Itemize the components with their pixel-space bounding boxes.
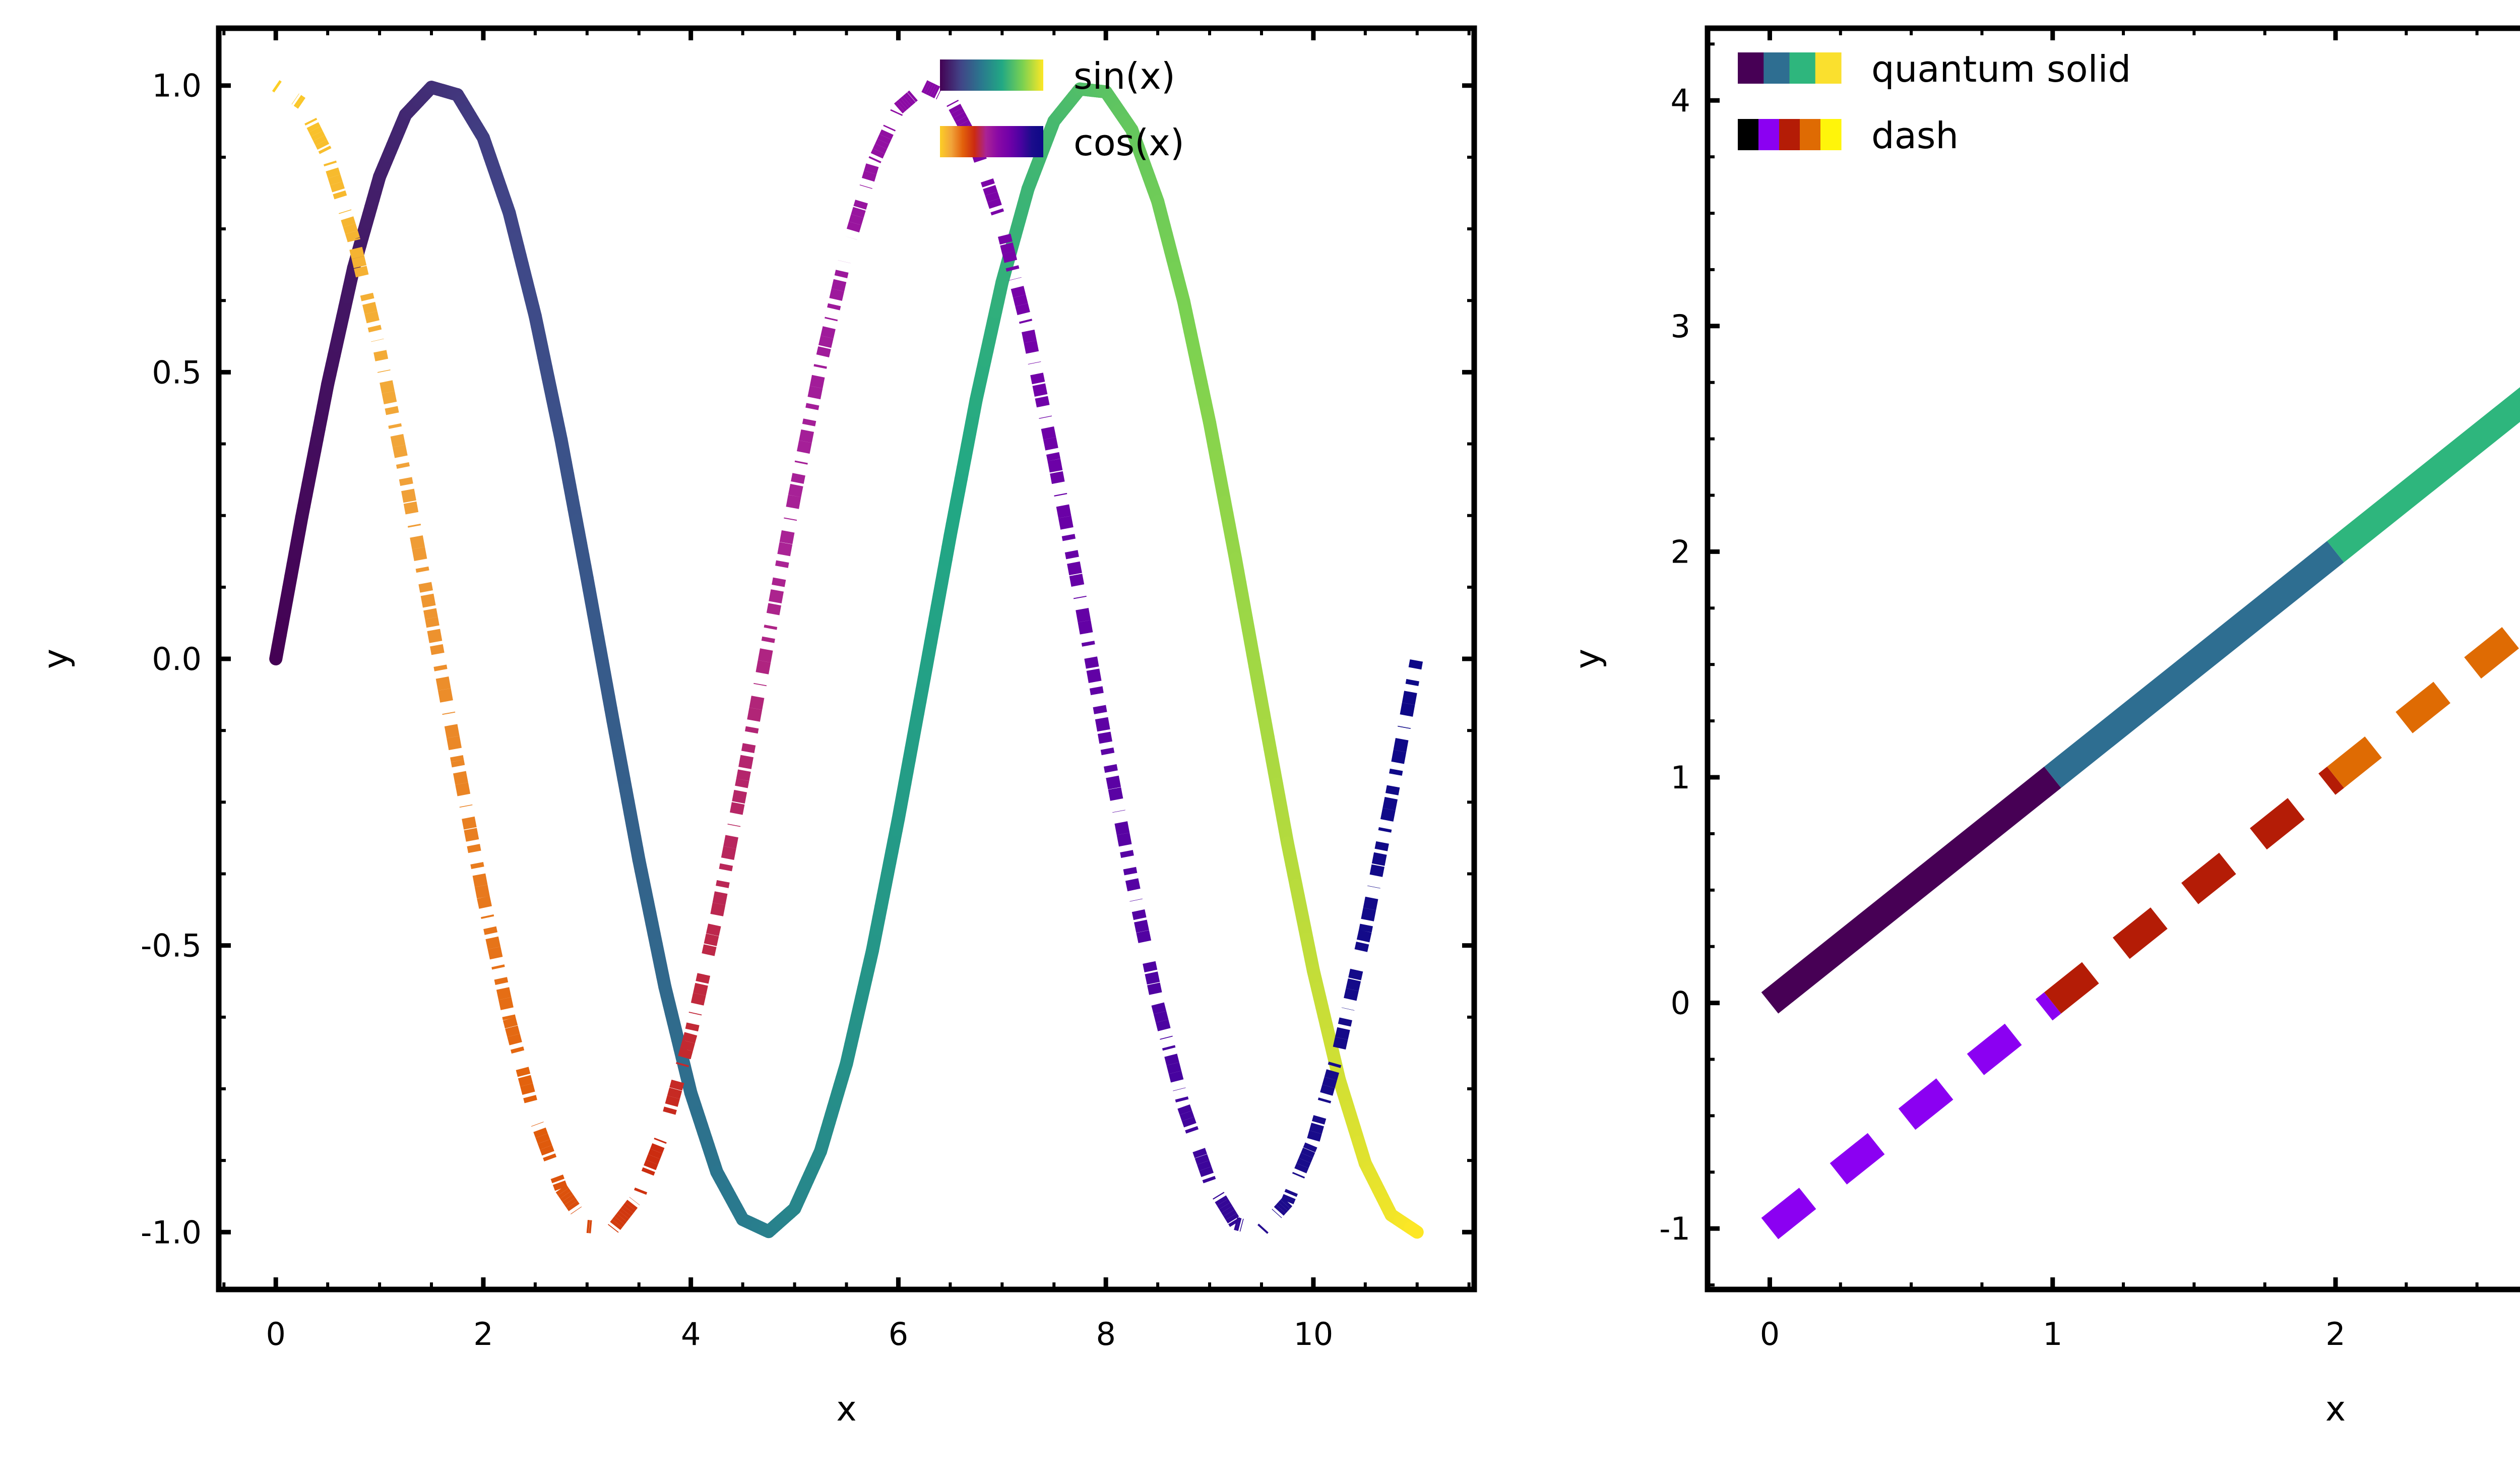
- x-axis-label: x: [836, 1389, 856, 1429]
- line-dash-piece: [1287, 1197, 1289, 1202]
- line-dash-piece: [1342, 1029, 1344, 1038]
- line-dash-piece: [1238, 1224, 1240, 1224]
- line-dash-piece: [1112, 777, 1114, 788]
- legend-label: quantum solid: [1871, 48, 2131, 90]
- legend-label: dash: [1871, 114, 1959, 157]
- line-dash-piece: [1376, 865, 1378, 876]
- line-dash-piece: [671, 1097, 673, 1105]
- line-dash-piece: [730, 836, 732, 847]
- line-dash-piece: [676, 1081, 678, 1089]
- line-dash-piece: [297, 100, 299, 102]
- line-dash-piece: [1220, 1199, 1222, 1202]
- line-dash-piece: [1158, 1004, 1160, 1013]
- line-dash-piece: [416, 536, 418, 548]
- y-tick-label: 1.0: [152, 68, 202, 104]
- line-dash-piece: [1398, 751, 1400, 763]
- line-dash-piece: [334, 176, 336, 183]
- line-dash-piece: [1017, 287, 1019, 296]
- line-dash-piece: [1363, 931, 1365, 941]
- line-dash-piece: [514, 1035, 516, 1043]
- line-dash-piece: [460, 772, 462, 784]
- line-dash-piece: [1074, 563, 1076, 574]
- line-dash-piece: [1354, 970, 1356, 980]
- line-dash-piece: [1020, 296, 1022, 304]
- line-dash-piece: [631, 1204, 633, 1206]
- line-dash-piece: [652, 1157, 654, 1162]
- line-dash-piece: [1281, 1206, 1283, 1209]
- line-dash-piece: [803, 442, 805, 453]
- legend-swatch-block: [1763, 52, 1790, 84]
- y-tick-label: -0.5: [141, 928, 202, 964]
- line-dash-piece: [1171, 1055, 1173, 1064]
- line-dash-piece: [1173, 1064, 1175, 1072]
- line-dash-piece: [926, 87, 928, 88]
- line-dash-piece: [1300, 1165, 1302, 1170]
- line-dash-piece: [719, 893, 721, 904]
- line-dash-piece: [838, 281, 840, 290]
- line-dash-piece: [453, 737, 455, 749]
- line-dash-piece: [816, 376, 818, 387]
- line-dash-piece: [312, 125, 314, 130]
- y-tick-label: 1: [1671, 759, 1690, 796]
- line-dash-piece: [1406, 704, 1408, 715]
- line-dash-piece: [654, 1151, 656, 1157]
- line-dash-piece: [563, 1192, 565, 1195]
- line-dash-piece: [911, 95, 913, 97]
- axes-right-panel: 01234-101234xyquantum soliddash: [1568, 28, 2520, 1429]
- line-dash-piece: [898, 107, 900, 109]
- line-dash-piece: [686, 1042, 688, 1050]
- line-dash-piece: [1114, 788, 1116, 800]
- line-dash-piece: [814, 387, 816, 398]
- x-axis-label: x: [2325, 1389, 2346, 1429]
- legend-swatch-block: [1758, 119, 1780, 150]
- line-dash-piece: [1022, 305, 1024, 314]
- y-axis-label: y: [36, 649, 76, 669]
- line-dash-piece: [870, 165, 872, 172]
- line-dash-piece: [349, 225, 351, 232]
- line-dash-piece: [451, 725, 453, 737]
- line-dash-piece: [1009, 253, 1011, 261]
- line-dash-piece: [1028, 331, 1030, 341]
- y-tick-label: 0.0: [152, 641, 202, 677]
- x-tick-label: 4: [681, 1316, 701, 1352]
- line-dash-piece: [617, 1220, 619, 1223]
- line-dash-piece: [879, 146, 881, 151]
- line-dash-piece: [1223, 1202, 1225, 1206]
- line-dash-piece: [688, 1034, 690, 1042]
- line-dash-piece: [857, 209, 859, 216]
- line-dash-piece: [656, 1146, 658, 1151]
- line-dash-piece: [356, 249, 358, 258]
- y-tick-label: 2: [1671, 533, 1690, 570]
- y-tick-label: -1.0: [141, 1214, 202, 1251]
- line-dash-piece: [371, 313, 373, 322]
- line-dash-piece: [1084, 621, 1086, 633]
- line-dash-piece: [762, 661, 764, 673]
- x-tick-label: 0: [266, 1316, 286, 1352]
- line-dash-piece: [1050, 439, 1052, 449]
- line-dash-piece: [479, 875, 481, 886]
- plot-area-left-panel: [219, 28, 1474, 1289]
- line-dash-piece: [881, 142, 883, 146]
- line-dash-piece: [1102, 718, 1104, 730]
- line-dash-piece: [836, 290, 838, 299]
- line-dash-piece: [728, 847, 730, 858]
- line-dash-piece: [905, 101, 907, 103]
- line-dash-piece: [1367, 909, 1369, 920]
- line-dash-piece: [512, 1027, 514, 1035]
- legend-swatch-block: [1738, 119, 1759, 150]
- line-dash-piece: [527, 1085, 529, 1093]
- line-dash-piece: [570, 1201, 572, 1204]
- line-dash-piece: [1160, 1013, 1162, 1021]
- line-dash-piece: [1227, 1209, 1229, 1213]
- legend-label: cos(x): [1074, 121, 1184, 164]
- line-dash-piece: [907, 99, 909, 101]
- line-dash-piece: [1030, 342, 1032, 352]
- line-dash-piece: [1004, 235, 1006, 244]
- matplotlib-figure: 0246810-1.0-0.50.00.51.0xysin(x)cos(x)01…: [0, 0, 2520, 1479]
- line-dash-piece: [619, 1217, 621, 1220]
- line-dash-piece: [853, 223, 855, 230]
- line-dash-piece: [358, 258, 360, 267]
- line-dash-piece: [559, 1183, 561, 1189]
- line-dash-piece: [859, 202, 861, 209]
- line-dash-piece: [957, 111, 959, 115]
- line-dash-piece: [1283, 1204, 1285, 1207]
- line-dash-piece: [492, 938, 494, 948]
- line-dash-piece: [795, 485, 797, 496]
- line-dash-piece: [561, 1189, 563, 1192]
- line-dash-piece: [299, 102, 301, 103]
- line-dash-piece: [1143, 932, 1145, 942]
- line-dash-piece: [503, 989, 505, 999]
- x-tick-label: 10: [1293, 1316, 1333, 1352]
- line-dash-piece: [1062, 506, 1064, 517]
- x-tick-label: 2: [473, 1316, 493, 1352]
- line-dash-piece: [1369, 898, 1371, 909]
- line-dash-piece: [933, 90, 935, 91]
- line-dash-piece: [1313, 1132, 1315, 1140]
- line-dash-piece: [542, 1136, 544, 1142]
- line-dash-piece: [1039, 385, 1041, 395]
- line-dash-piece: [544, 1142, 546, 1148]
- line-dash-piece: [786, 531, 788, 543]
- line-dash-piece: [314, 130, 317, 134]
- line-dash-piece: [347, 218, 349, 225]
- line-dash-piece: [673, 1089, 675, 1097]
- line-dash-piece: [1329, 1079, 1331, 1086]
- line-dash-piece: [955, 107, 957, 111]
- line-dash-piece: [1186, 1113, 1188, 1119]
- legend-swatch-gradient: [940, 126, 1043, 157]
- line-dash-piece: [825, 337, 827, 347]
- x-tick-label: 0: [1760, 1316, 1780, 1352]
- legend-swatch-block: [1815, 52, 1842, 84]
- line-dash-piece: [886, 132, 888, 137]
- line-dash-piece: [624, 1212, 626, 1214]
- y-tick-label: 4: [1671, 82, 1690, 119]
- line-dash-piece: [317, 134, 319, 138]
- line-dash-piece: [408, 490, 410, 502]
- line-dash-piece: [698, 994, 700, 1004]
- line-dash-piece: [615, 1223, 617, 1225]
- line-dash-piece: [792, 496, 794, 508]
- line-dash-piece: [1236, 1223, 1238, 1224]
- line-dash-piece: [1047, 427, 1049, 438]
- line-dash-piece: [470, 829, 472, 841]
- axes-left-panel: 0246810-1.0-0.50.00.51.0xysin(x)cos(x): [36, 28, 1474, 1429]
- line-dash-piece: [481, 886, 483, 898]
- line-dash-piece: [1331, 1071, 1333, 1079]
- line-dash-piece: [1188, 1119, 1190, 1125]
- line-dash-piece: [1387, 809, 1389, 820]
- line-dash-piece: [1378, 853, 1380, 865]
- line-dash-piece: [1229, 1213, 1231, 1216]
- line-dash-piece: [989, 187, 991, 194]
- line-dash-piece: [427, 595, 429, 606]
- line-dash-piece: [827, 328, 829, 337]
- line-dash-piece: [1327, 1086, 1329, 1094]
- line-dash-piece: [483, 897, 485, 907]
- line-dash-piece: [1123, 834, 1125, 845]
- line-dash-piece: [1307, 1150, 1309, 1155]
- line-dash-piece: [753, 709, 755, 721]
- line-dash-piece: [868, 172, 870, 179]
- line-dash-piece: [1093, 670, 1095, 682]
- line-dash-piece: [1151, 973, 1153, 983]
- line-dash-piece: [410, 502, 412, 513]
- line-dash-piece: [784, 543, 786, 555]
- line-dash-piece: [710, 935, 712, 945]
- line-dash-piece: [462, 784, 464, 795]
- line-dash-piece: [336, 183, 338, 191]
- line-dash-piece: [276, 86, 278, 87]
- line-dash-piece: [1203, 1162, 1205, 1168]
- line-dash-piece: [650, 1162, 652, 1168]
- line-piece: [1415, 1230, 1417, 1232]
- line-dash-piece: [708, 945, 710, 955]
- line-dash-piece: [1225, 1206, 1227, 1209]
- line-dash-piece: [823, 346, 825, 356]
- line-dash-piece: [959, 115, 961, 119]
- legend-swatch-gradient: [940, 59, 1043, 91]
- line-dash-piece: [1121, 823, 1123, 834]
- line-dash-piece: [1315, 1125, 1317, 1132]
- line-dash-piece: [388, 392, 390, 403]
- y-tick-label: 0.5: [152, 354, 202, 391]
- line-dash-piece: [877, 151, 879, 156]
- line-dash-piece: [1285, 1202, 1287, 1204]
- line-dash-piece: [524, 1077, 526, 1085]
- x-tick-label: 6: [889, 1316, 908, 1352]
- line-dash-piece: [433, 630, 435, 642]
- line-dash-piece: [931, 89, 933, 90]
- line-dash-piece: [1389, 798, 1391, 809]
- line-dash-piece: [332, 169, 334, 176]
- line-dash-piece: [1006, 244, 1009, 253]
- line-dash-piece: [568, 1198, 570, 1201]
- line-dash-piece: [442, 677, 444, 690]
- figure-canvas: 0246810-1.0-0.50.00.51.0xysin(x)cos(x)01…: [0, 0, 2520, 1479]
- line-dash-piece: [1409, 692, 1411, 704]
- line-dash-piece: [1065, 517, 1067, 529]
- legend-swatch-block: [1820, 119, 1842, 150]
- line-dash-piece: [445, 690, 447, 702]
- line-dash-piece: [961, 119, 963, 123]
- line-dash-piece: [903, 103, 905, 105]
- line-dash-piece: [1201, 1156, 1203, 1162]
- line-dash-piece: [572, 1204, 574, 1207]
- line-dash-piece: [494, 948, 496, 958]
- legend-swatch-block: [1738, 52, 1764, 84]
- line-dash-piece: [1056, 471, 1058, 483]
- line-dash-piece: [1231, 1216, 1233, 1220]
- line-dash-piece: [713, 925, 715, 935]
- line-dash-piece: [565, 1195, 568, 1198]
- line-dash-piece: [505, 999, 507, 1009]
- line-dash-piece: [736, 803, 738, 814]
- line-dash-piece: [1082, 609, 1084, 621]
- line-dash-piece: [1154, 983, 1156, 994]
- line-dash-piece: [924, 86, 926, 87]
- line-dash-piece: [1309, 1145, 1311, 1150]
- line-dash-piece: [928, 88, 930, 89]
- line-dash-piece: [765, 649, 767, 661]
- legend-swatch-block: [1790, 52, 1816, 84]
- line-dash-piece: [1279, 1209, 1281, 1211]
- x-tick-label: 8: [1096, 1316, 1115, 1352]
- line-dash-piece: [1339, 1038, 1341, 1048]
- line-dash-piece: [993, 200, 995, 207]
- line-dash-piece: [539, 1130, 541, 1136]
- y-axis-label: y: [1568, 649, 1608, 669]
- line-dash-piece: [319, 138, 321, 143]
- line-dash-piece: [883, 137, 885, 142]
- legend-swatch-block: [1800, 119, 1821, 150]
- line-dash-piece: [909, 97, 911, 99]
- line-dash-piece: [1352, 980, 1354, 990]
- line-dash-piece: [1205, 1168, 1207, 1175]
- y-tick-label: 0: [1671, 985, 1690, 1022]
- line-dash-piece: [755, 697, 758, 709]
- line-dash-piece: [418, 548, 420, 560]
- line-dash-piece: [901, 105, 903, 107]
- legend-swatch-block: [1779, 119, 1800, 150]
- line-dash-piece: [1400, 739, 1402, 751]
- line-dash-piece: [360, 267, 362, 276]
- line-dash-piece: [628, 1206, 630, 1209]
- line-dash-piece: [855, 216, 857, 223]
- line-dash-piece: [991, 194, 993, 200]
- line-dash-piece: [1305, 1155, 1307, 1160]
- line-dash-piece: [1076, 574, 1078, 586]
- line-dash-piece: [626, 1209, 628, 1212]
- line-dash-piece: [621, 1215, 623, 1217]
- line-dash-piece: [1175, 1072, 1177, 1081]
- line-dash-piece: [700, 984, 702, 995]
- line-dash-piece: [1141, 921, 1143, 932]
- line-dash-piece: [1350, 990, 1352, 999]
- line-dash-piece: [1199, 1150, 1201, 1156]
- line-dash-piece: [509, 1019, 511, 1027]
- line-dash-piece: [745, 756, 747, 768]
- line-dash-piece: [546, 1147, 548, 1153]
- x-tick-label: 2: [2325, 1316, 2345, 1352]
- line-dash-piece: [321, 143, 323, 147]
- line-dash-piece: [717, 904, 719, 915]
- line-dash-piece: [369, 303, 371, 313]
- y-tick-label: -1: [1659, 1210, 1690, 1247]
- line-dash-piece: [805, 430, 807, 442]
- line-dash-piece: [1132, 880, 1134, 890]
- line-dash-piece: [1184, 1106, 1186, 1113]
- plot-area-right-panel: [1708, 28, 2520, 1289]
- line-dash-piece: [386, 382, 388, 392]
- line-dash-piece: [1302, 1160, 1304, 1165]
- line-dash-piece: [738, 791, 740, 802]
- line-dash-piece: [935, 91, 937, 92]
- legend-label: sin(x): [1074, 55, 1175, 97]
- line-dash-piece: [351, 232, 353, 239]
- line-dash-piece: [1162, 1021, 1164, 1030]
- line-dash-piece: [397, 435, 399, 446]
- line-dash-piece: [775, 590, 777, 602]
- y-tick-label: 3: [1671, 308, 1690, 345]
- x-tick-label: 1: [2043, 1316, 2062, 1352]
- line-dash-piece: [684, 1050, 686, 1058]
- line-dash-piece: [399, 446, 401, 457]
- line-dash-piece: [468, 818, 470, 829]
- line-dash-piece: [1054, 460, 1056, 471]
